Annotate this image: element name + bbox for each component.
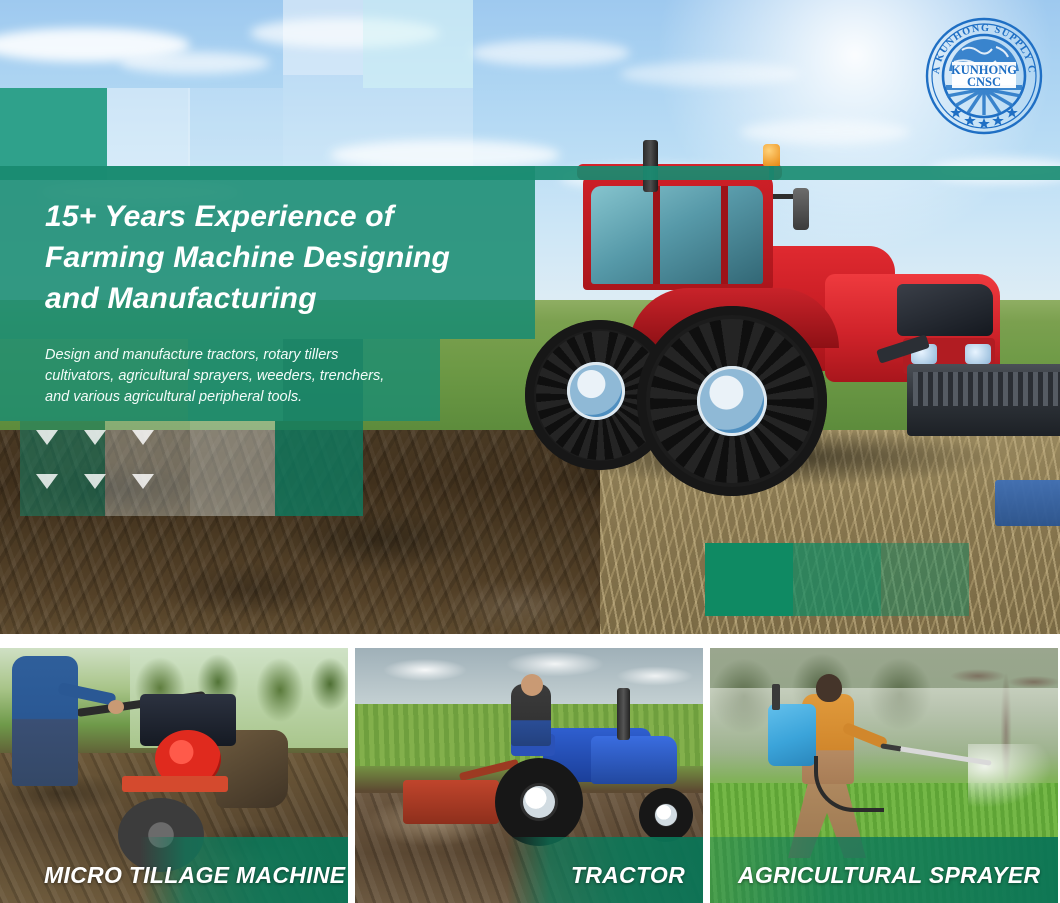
hero-banner: 15+ Years Experience of Farming Machine … <box>0 0 1060 634</box>
decor-block-lower-right <box>705 543 793 616</box>
tractor-beacon-light <box>763 144 780 166</box>
operator-figure <box>12 656 78 786</box>
sprayer-pump-handle <box>772 684 780 710</box>
card-label: MICRO TILLAGE MACHINE <box>44 862 345 889</box>
triangle-down-icon <box>84 474 106 489</box>
tractor-hood <box>591 736 677 784</box>
tractor-rear-hub <box>697 366 767 436</box>
logo-center-line-2: CNSC <box>967 75 1001 89</box>
rotary-tiller-implement <box>403 780 499 824</box>
triangle-down-icon <box>132 430 154 445</box>
operator-hand <box>108 700 124 714</box>
tractor-rear-hub <box>523 786 555 818</box>
card-label: TRACTOR <box>571 862 685 889</box>
subtext-line-3: and various agricultural peripheral tool… <box>45 387 465 408</box>
tractor-cab-pillar <box>721 186 728 284</box>
front-implement <box>907 364 1060 436</box>
subtext-line-2: cultivators, agricultural sprayers, weed… <box>45 366 465 387</box>
triangle-down-icon <box>36 474 58 489</box>
cloud-shape <box>620 62 800 86</box>
decor-block-lower-left <box>190 421 275 516</box>
trailer-implement <box>995 480 1060 526</box>
triangle-down-icon <box>84 430 106 445</box>
decor-block-lower-right <box>793 543 881 616</box>
tractor-headlight <box>965 344 991 364</box>
tractor-mirror <box>793 188 809 230</box>
product-card-micro-tillage-machine[interactable]: MICRO TILLAGE MACHINE <box>0 648 348 903</box>
cloud-shape <box>470 40 630 66</box>
product-card-agricultural-sprayer[interactable]: AGRICULTURAL SPRAYER <box>710 648 1058 903</box>
decor-block-lower-right <box>881 543 969 616</box>
decor-block-sky <box>363 0 473 88</box>
triangle-down-icon <box>132 474 154 489</box>
tiller-guard-plate <box>122 776 228 792</box>
triangle-pattern <box>36 430 176 506</box>
product-card-tractor[interactable]: TRACTOR <box>355 648 703 903</box>
headline-line-3: and Manufacturing <box>45 278 525 319</box>
decor-block-sky <box>283 0 363 75</box>
company-logo: CHINA KUNHONG SUPPLY CHAIN KUNHONG CNSC <box>922 14 1046 138</box>
card-label: AGRICULTURAL SPRAYER <box>738 862 1040 889</box>
tractor-photo <box>525 128 1060 528</box>
hero-description: Design and manufacture tractors, rotary … <box>45 345 465 408</box>
operator-head <box>521 674 543 696</box>
product-card-row: MICRO TILLAGE MACHINE TRACTOR <box>0 648 1060 903</box>
logo-seal-icon: CHINA KUNHONG SUPPLY CHAIN KUNHONG CNSC <box>922 14 1046 138</box>
operator-head <box>816 674 842 702</box>
decor-block-lower-left <box>275 421 363 516</box>
tractor-cab-glass <box>591 186 763 284</box>
tractor-cab-pillar <box>653 186 660 284</box>
subtext-line-1: Design and manufacture tractors, rotary … <box>45 345 465 366</box>
tractor-front-hub <box>567 362 625 420</box>
page-title: 15+ Years Experience of Farming Machine … <box>45 196 525 319</box>
tractor-hood-window <box>897 284 993 336</box>
headline-line-2: Farming Machine Designing <box>45 237 525 278</box>
tractor-front-hub <box>655 804 677 826</box>
tractor-exhaust-pipe <box>617 688 630 740</box>
triangle-down-icon <box>36 430 58 445</box>
cloud-shape <box>120 52 270 74</box>
headline-line-1: 15+ Years Experience of <box>45 196 525 237</box>
spray-mist <box>968 744 1052 808</box>
sprayer-backpack-tank <box>768 704 816 766</box>
